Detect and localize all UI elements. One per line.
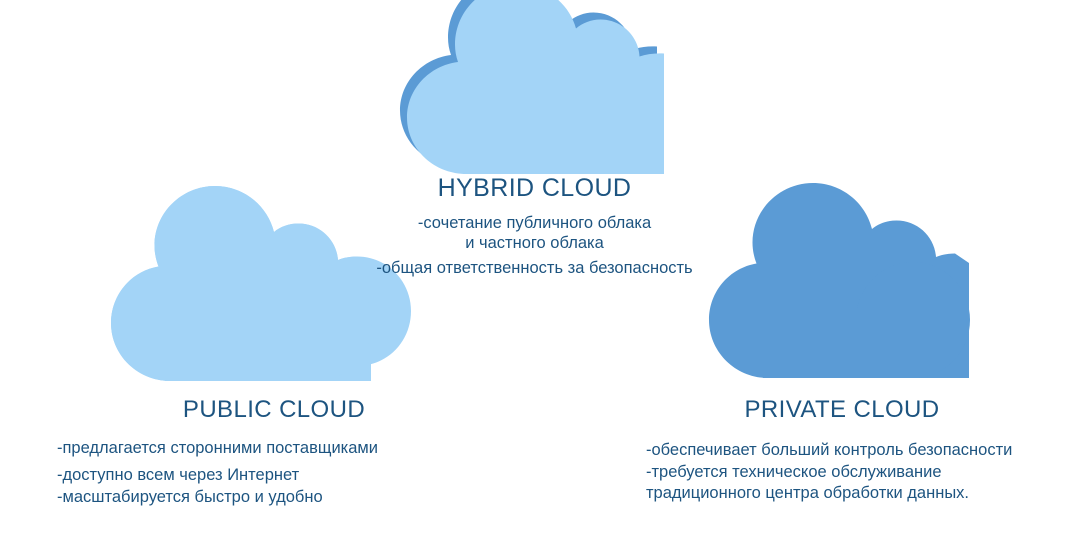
bullet-line: -обеспечивает больший контроль безопасно… bbox=[646, 440, 1061, 462]
diagram-canvas: HYBRID CLOUD -сочетание публичного облак… bbox=[0, 0, 1065, 555]
bullet-line: -предлагается сторонними поставщиками bbox=[57, 437, 457, 459]
bullet-line: традиционного центра обработки данных. bbox=[646, 483, 1061, 505]
public-cloud-text-block: PUBLIC CLOUD -предлагается сторонними по… bbox=[57, 396, 457, 508]
private-cloud-heading: PRIVATE CLOUD bbox=[646, 396, 1038, 424]
hybrid-cloud-text-block: HYBRID CLOUD -сочетание публичного облак… bbox=[317, 174, 752, 279]
private-cloud-bullets: -обеспечивает больший контроль безопасно… bbox=[646, 440, 1061, 505]
hybrid-cloud-bullets: -сочетание публичного облака и частного … bbox=[317, 214, 752, 279]
hybrid-cloud-heading: HYBRID CLOUD bbox=[317, 174, 752, 203]
public-cloud-heading: PUBLIC CLOUD bbox=[79, 396, 469, 424]
private-cloud-text-block: PRIVATE CLOUD -обеспечивает больший конт… bbox=[646, 396, 1061, 505]
bullet-line: и частного облака bbox=[317, 234, 752, 254]
bullet-line: -доступно всем через Интернет bbox=[57, 464, 457, 486]
bullet-line: -общая ответственность за безопасность bbox=[317, 259, 752, 279]
bullet-line: -требуется техническое обслуживание bbox=[646, 462, 1061, 484]
bullet-line: -масштабируется быстро и удобно bbox=[57, 486, 457, 508]
hybrid-cloud-icon bbox=[399, 8, 669, 178]
public-cloud-bullets: -предлагается сторонними поставщиками -д… bbox=[57, 437, 457, 508]
bullet-line: -сочетание публичного облака bbox=[317, 214, 752, 234]
